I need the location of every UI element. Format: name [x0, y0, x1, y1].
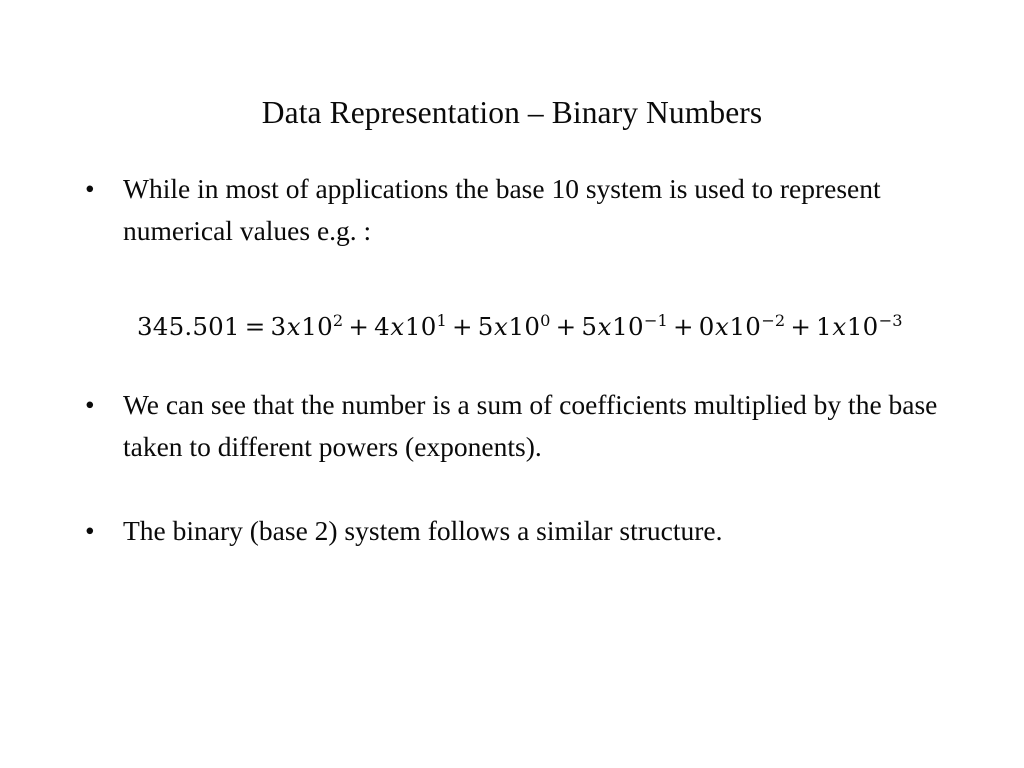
- equation-term-2-exponent: 1: [436, 311, 446, 330]
- equation-term-6-base: 10: [847, 312, 879, 341]
- equation-term-5-multiplier: x: [714, 312, 729, 341]
- slide: Data Representation – Binary Numbers • W…: [0, 0, 1024, 768]
- equation-term-6: 1x10−3: [816, 312, 903, 341]
- equation-term-2: 4x101: [374, 312, 447, 341]
- equation-plus-3: +: [551, 312, 582, 341]
- equation-term-6-exponent: −3: [878, 311, 902, 330]
- equation-term-1-coefficient: 3: [270, 312, 286, 341]
- equation-term-5-base: 10: [730, 312, 762, 341]
- equation-term-4-multiplier: x: [597, 312, 612, 341]
- equation-term-3: 5x100: [478, 312, 551, 341]
- slide-body: • While in most of applications the base…: [78, 168, 958, 552]
- equation-term-3-base: 10: [509, 312, 541, 341]
- equation-term-2-coefficient: 4: [374, 312, 390, 341]
- equation-term-2-base: 10: [405, 312, 437, 341]
- equation-plus-5: +: [785, 312, 816, 341]
- equation-term-4-base: 10: [612, 312, 644, 341]
- equation-term-4-coefficient: 5: [581, 312, 597, 341]
- equation-term-4: 5x10−1: [581, 312, 668, 341]
- equation-term-1-exponent: 2: [333, 311, 343, 330]
- equation-term-3-exponent: 0: [540, 311, 550, 330]
- equation-plus-1: +: [343, 312, 374, 341]
- equation-term-3-multiplier: x: [494, 312, 509, 341]
- equation-term-6-coefficient: 1: [816, 312, 832, 341]
- bullet-text-sum-of-coefficients: We can see that the number is a sum of c…: [123, 384, 943, 468]
- equation-term-5-coefficient: 0: [699, 312, 715, 341]
- spacer-after-equation: [78, 344, 958, 384]
- slide-title: Data Representation – Binary Numbers: [0, 93, 1024, 133]
- bullet-text-base-10: While in most of applications the base 1…: [123, 168, 943, 252]
- equation-term-1: 3x102: [270, 312, 343, 341]
- equation-term-3-coefficient: 5: [478, 312, 494, 341]
- bullet-item-base-10: • While in most of applications the base…: [78, 168, 958, 252]
- equation-term-5: 0x10−2: [699, 312, 786, 341]
- equation-term-4-exponent: −1: [644, 311, 668, 330]
- equation-left-side: 345.501: [137, 312, 240, 341]
- spacer-after-bullet-2: [78, 468, 958, 510]
- equation-term-6-multiplier: x: [832, 312, 847, 341]
- bullet-item-sum-of-coefficients: • We can see that the number is a sum of…: [78, 384, 958, 468]
- equation-term-1-base: 10: [301, 312, 333, 341]
- bullet-marker-icon: •: [78, 510, 123, 552]
- equation-term-2-multiplier: x: [390, 312, 405, 341]
- equation-equals-sign: =: [240, 312, 271, 341]
- spacer-after-bullet-1: [78, 252, 958, 310]
- equation-plus-4: +: [668, 312, 699, 341]
- bullet-item-binary-structure: • The binary (base 2) system follows a s…: [78, 510, 958, 552]
- equation-term-1-multiplier: x: [286, 312, 301, 341]
- bullet-text-binary-structure: The binary (base 2) system follows a sim…: [123, 510, 943, 552]
- equation-base-10-expansion: 345.501=3x102+4x101+5x100+5x10−1+0x10−2+…: [78, 310, 958, 344]
- bullet-marker-icon: •: [78, 384, 123, 426]
- bullet-marker-icon: •: [78, 168, 123, 210]
- equation-plus-2: +: [447, 312, 478, 341]
- equation-term-5-exponent: −2: [761, 311, 785, 330]
